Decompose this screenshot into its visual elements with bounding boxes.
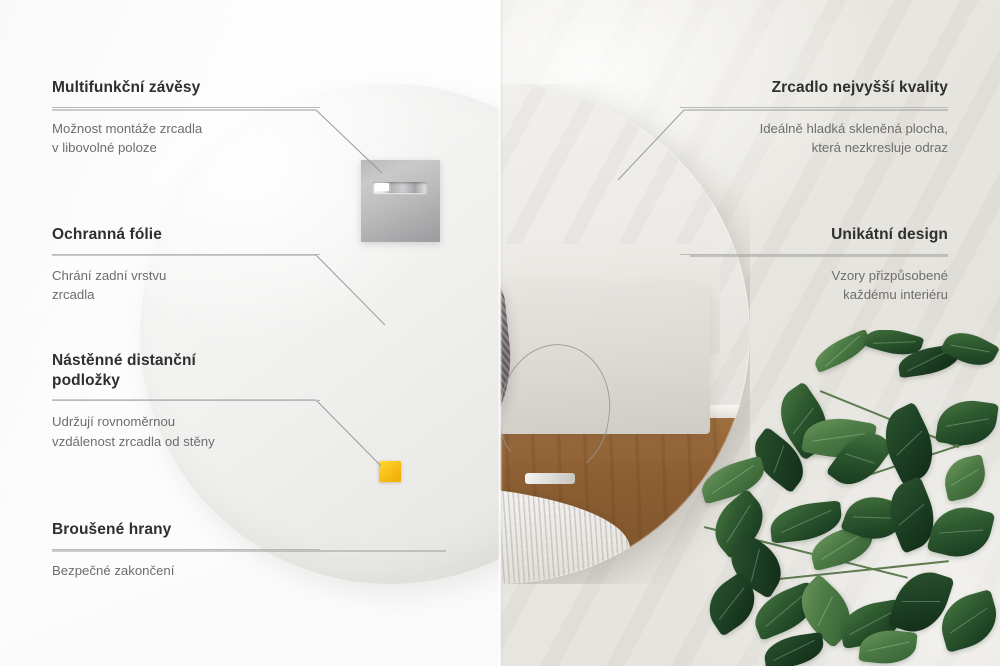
leaf	[762, 632, 826, 666]
callout-rule	[52, 549, 320, 550]
callout-rule	[52, 254, 320, 255]
callout-rule	[52, 107, 320, 108]
callout-protective-foil: Ochranná fólie Chrání zadní vrstvuzrcadl…	[52, 225, 320, 305]
callout-description: Bezpečné zakončení	[52, 561, 320, 580]
callout-title: Multifunkční závěsy	[52, 78, 320, 98]
callout-description: Možnost montáže zrcadlav libovolné poloz…	[52, 119, 320, 158]
leaf	[700, 456, 769, 505]
leaf	[940, 454, 989, 502]
callout-title: Nástěnné distančnípodložky	[52, 351, 320, 391]
callout-ground-edges: Broušené hrany Bezpečné zakončení	[52, 520, 320, 580]
callout-rule	[680, 254, 948, 255]
leaf	[810, 330, 874, 373]
yellow-spacer-pad	[379, 461, 401, 482]
callout-unique-design: Unikátní design Vzory přizpůsobenékaždém…	[680, 225, 948, 305]
callout-description: Vzory přizpůsobenékaždému interiéru	[680, 266, 948, 305]
callout-multifunctional-hangers: Multifunkční závěsy Možnost montáže zrca…	[52, 78, 320, 158]
split-view-seam	[498, 0, 503, 666]
callout-wall-spacers: Nástěnné distančnípodložky Udržují rovno…	[52, 351, 320, 451]
callout-rule	[52, 400, 320, 401]
callout-title: Broušené hrany	[52, 520, 320, 540]
leaf	[935, 396, 999, 450]
leaf	[927, 500, 996, 564]
callout-title: Ochranná fólie	[52, 225, 320, 245]
callout-rule	[680, 107, 948, 108]
callout-title: Zrcadlo nejvyšší kvality	[680, 78, 948, 98]
callout-description: Ideálně hladká skleněná plocha,která nez…	[680, 119, 948, 158]
callout-description: Udržují rovnoměrnouvzdálenost zrcadla od…	[52, 412, 320, 451]
callout-title: Unikátní design	[680, 225, 948, 245]
foliage-decoration	[700, 330, 1000, 666]
infographic-canvas: Multifunkční závěsy Možnost montáže zrca…	[0, 0, 1000, 666]
hanger-slot-icon	[373, 182, 427, 193]
hanger-plate	[361, 160, 440, 242]
callout-highest-quality-mirror: Zrcadlo nejvyšší kvality Ideálně hladká …	[680, 78, 948, 158]
callout-description: Chrání zadní vrstvuzrcadla	[52, 266, 320, 305]
leaf	[940, 330, 1000, 374]
